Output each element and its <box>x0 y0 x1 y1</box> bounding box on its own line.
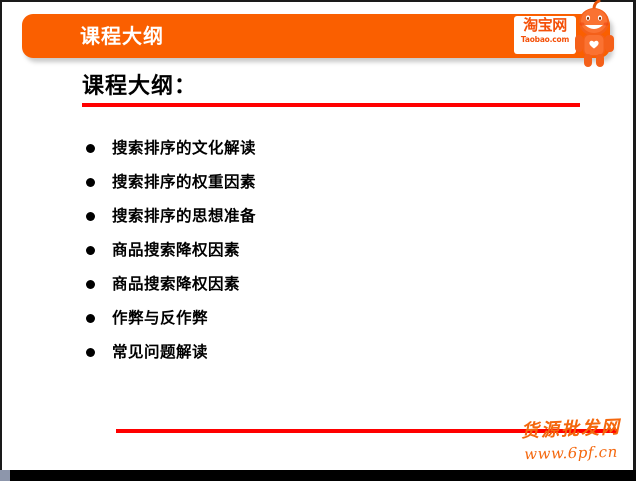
slide-corner-tab <box>0 470 10 481</box>
slide-border-left <box>0 0 2 470</box>
page-title: 课程大纲： <box>82 73 197 101</box>
bullet-icon <box>86 348 95 357</box>
list-item-label: 商品搜索降权因素 <box>112 233 240 267</box>
logo-name-cn: 淘宝网 <box>514 17 576 34</box>
list-item-label: 搜索排序的文化解读 <box>112 131 256 165</box>
list-item-label: 作弊与反作弊 <box>112 301 208 335</box>
list-item-label: 常见问题解读 <box>112 335 208 369</box>
watermark-site-name: 货源批发网 <box>508 415 635 444</box>
heading-divider <box>82 103 580 107</box>
bullet-icon <box>86 178 95 187</box>
list-item: 作弊与反作弊 <box>84 301 554 335</box>
list-item: 搜索排序的思想准备 <box>84 199 554 233</box>
list-item: 搜索排序的权重因素 <box>84 165 554 199</box>
bullet-icon <box>86 212 95 221</box>
slide-title: 课程大纲 <box>80 23 164 49</box>
bullet-icon <box>86 144 95 153</box>
list-item-label: 搜索排序的思想准备 <box>112 199 256 233</box>
list-item: 商品搜索降权因素 <box>84 233 554 267</box>
taobao-logo: 淘宝网 Taobao.com <box>508 0 636 68</box>
list-item: 搜索排序的文化解读 <box>84 131 554 165</box>
watermark-url: www.6pf.cn <box>508 441 634 464</box>
logo-name-en: Taobao.com <box>512 35 578 44</box>
bullet-icon <box>86 314 95 323</box>
bullet-icon <box>86 246 95 255</box>
presentation-slide: 课程大纲 淘宝网 Taobao.com <box>0 0 636 481</box>
list-item: 常见问题解读 <box>84 335 554 369</box>
taobao-mascot-icon <box>570 0 620 68</box>
outline-list: 搜索排序的文化解读 搜索排序的权重因素 搜索排序的思想准备 商品搜索降权因素 商… <box>84 131 554 369</box>
list-item: 商品搜索降权因素 <box>84 267 554 301</box>
watermark: 货源批发网 www.6pf.cn <box>508 418 634 472</box>
slide-border-bottom <box>0 470 636 481</box>
bullet-icon <box>86 280 95 289</box>
list-item-label: 商品搜索降权因素 <box>112 267 240 301</box>
list-item-label: 搜索排序的权重因素 <box>112 165 256 199</box>
